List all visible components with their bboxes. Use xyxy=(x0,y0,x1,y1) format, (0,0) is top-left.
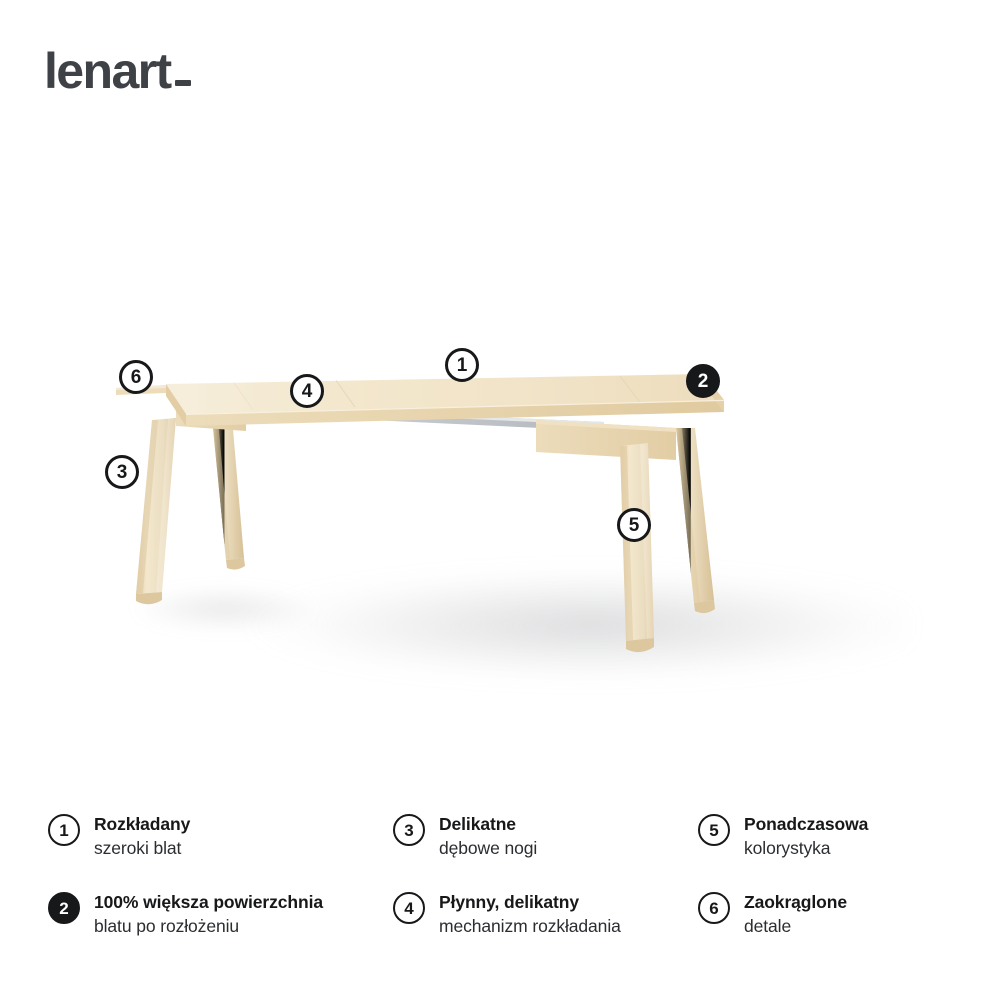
legend-badge-1-number: 1 xyxy=(59,822,68,839)
legend-badge-1: 1 xyxy=(48,814,80,846)
tabletop xyxy=(116,374,724,426)
brand-logo: lenart xyxy=(44,46,191,96)
legend-text-4: Płynny, delikatny mechanizm rozkładania xyxy=(439,890,621,938)
legend-subtitle-1: szeroki blat xyxy=(94,836,190,860)
callout-6-number: 6 xyxy=(131,368,142,387)
legend-badge-5-number: 5 xyxy=(709,822,718,839)
infographic-page: lenart xyxy=(0,0,1000,1000)
legend-badge-2-number: 2 xyxy=(59,900,68,917)
legend-text-2: 100% większa powierzchnia blatu po rozło… xyxy=(94,890,323,938)
front-right-leg xyxy=(620,443,654,652)
legend-title-3: Delikatne xyxy=(439,813,537,836)
legend-text-6: Zaokrąglone detale xyxy=(744,890,847,938)
legend-subtitle-3: dębowe nogi xyxy=(439,836,537,860)
table-drawing xyxy=(0,300,1000,730)
legend-subtitle-2: blatu po rozłożeniu xyxy=(94,914,323,938)
legend-item-1: 1 Rozkładany szeroki blat xyxy=(48,812,393,890)
legend-subtitle-6: detale xyxy=(744,914,847,938)
legend-item-3: 3 Delikatne dębowe nogi xyxy=(393,812,698,890)
legend-item-4: 4 Płynny, delikatny mechanizm rozkładani… xyxy=(393,890,698,968)
legend-badge-2: 2 xyxy=(48,892,80,924)
callout-1[interactable]: 1 xyxy=(445,348,479,382)
brand-logo-text: lenart xyxy=(44,46,171,96)
callout-3[interactable]: 3 xyxy=(105,455,139,489)
legend-title-5: Ponadczasowa xyxy=(744,813,868,836)
legend-text-1: Rozkładany szeroki blat xyxy=(94,812,190,860)
callout-1-number: 1 xyxy=(457,356,468,375)
legend-badge-6: 6 xyxy=(698,892,730,924)
callout-4-number: 4 xyxy=(302,382,313,401)
legend-text-5: Ponadczasowa kolorystyka xyxy=(744,812,868,860)
legend-badge-4: 4 xyxy=(393,892,425,924)
product-illustration: 1 2 3 4 5 6 xyxy=(0,300,1000,730)
rear-left-leg xyxy=(212,418,245,570)
legend-item-5: 5 Ponadczasowa kolorystyka xyxy=(698,812,998,890)
callout-5-number: 5 xyxy=(629,516,640,535)
callout-2[interactable]: 2 xyxy=(686,364,720,398)
legend-title-4: Płynny, delikatny xyxy=(439,891,621,914)
legend-text-3: Delikatne dębowe nogi xyxy=(439,812,537,860)
legend-subtitle-4: mechanizm rozkładania xyxy=(439,914,621,938)
legend-item-6: 6 Zaokrąglone detale xyxy=(698,890,998,968)
legend-badge-4-number: 4 xyxy=(404,900,413,917)
legend-badge-6-number: 6 xyxy=(709,900,718,917)
legend-item-2: 2 100% większa powierzchnia blatu po roz… xyxy=(48,890,393,968)
callout-5[interactable]: 5 xyxy=(617,508,651,542)
legend-subtitle-5: kolorystyka xyxy=(744,836,868,860)
callout-3-number: 3 xyxy=(117,463,128,482)
legend-title-2: 100% większa powierzchnia xyxy=(94,891,323,914)
front-left-leg xyxy=(136,418,176,604)
callout-4[interactable]: 4 xyxy=(290,374,324,408)
legend-badge-5: 5 xyxy=(698,814,730,846)
feature-legend: 1 Rozkładany szeroki blat 3 Delikatne dę… xyxy=(0,812,1000,982)
brand-logo-mark xyxy=(175,80,191,86)
legend-title-6: Zaokrąglone xyxy=(744,891,847,914)
rear-right-leg xyxy=(676,428,715,613)
legend-badge-3-number: 3 xyxy=(404,822,413,839)
callout-2-number: 2 xyxy=(698,372,709,391)
legend-title-1: Rozkładany xyxy=(94,813,190,836)
legend-badge-3: 3 xyxy=(393,814,425,846)
callout-6[interactable]: 6 xyxy=(119,360,153,394)
